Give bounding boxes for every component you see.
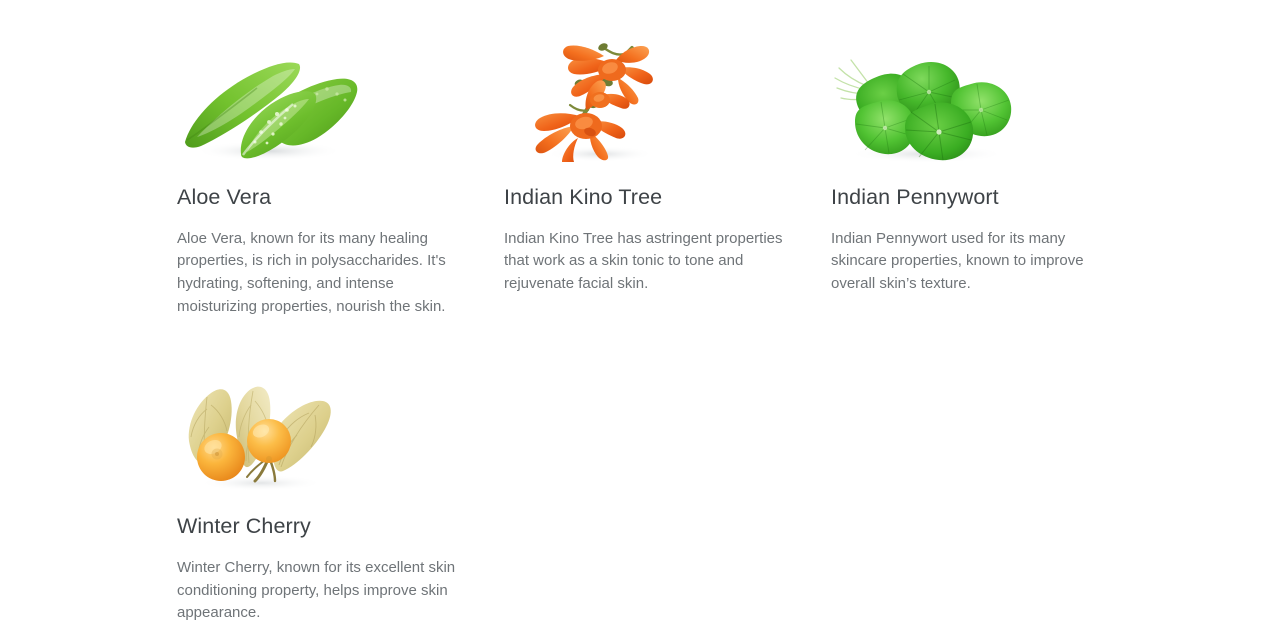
ingredient-description: Indian Kino Tree has astringent properti… (504, 228, 796, 296)
ingredients-row-1: Aloe Vera Aloe Vera, known for its many … (0, 16, 1280, 318)
indian-kino-tree-flowers-image (504, 16, 796, 162)
ingredient-title: Indian Pennywort (831, 184, 1123, 211)
ingredient-card-winter-cherry: Winter Cherry Winter Cherry, known for i… (177, 373, 504, 625)
ingredient-card-aloe-vera: Aloe Vera Aloe Vera, known for its many … (177, 16, 504, 318)
ingredient-title: Winter Cherry (177, 513, 469, 540)
ingredient-description: Aloe Vera, known for its many healing pr… (177, 228, 469, 318)
ingredients-row-2: Winter Cherry Winter Cherry, known for i… (0, 373, 1280, 625)
ingredient-card-indian-kino-tree: Indian Kino Tree Indian Kino Tree has as… (504, 16, 831, 296)
ingredient-title: Aloe Vera (177, 184, 469, 211)
indian-pennywort-leaves-image (831, 16, 1123, 162)
ingredient-description: Winter Cherry, known for its excellent s… (177, 557, 469, 625)
ingredient-description: Indian Pennywort used for its many skinc… (831, 228, 1123, 296)
ingredients-grid: Aloe Vera Aloe Vera, known for its many … (0, 0, 1280, 625)
winter-cherry-physalis-image (177, 373, 469, 491)
ingredient-card-indian-pennywort: Indian Pennywort Indian Pennywort used f… (831, 16, 1158, 296)
aloe-vera-leaves-image (177, 16, 469, 162)
ingredient-title: Indian Kino Tree (504, 184, 796, 211)
